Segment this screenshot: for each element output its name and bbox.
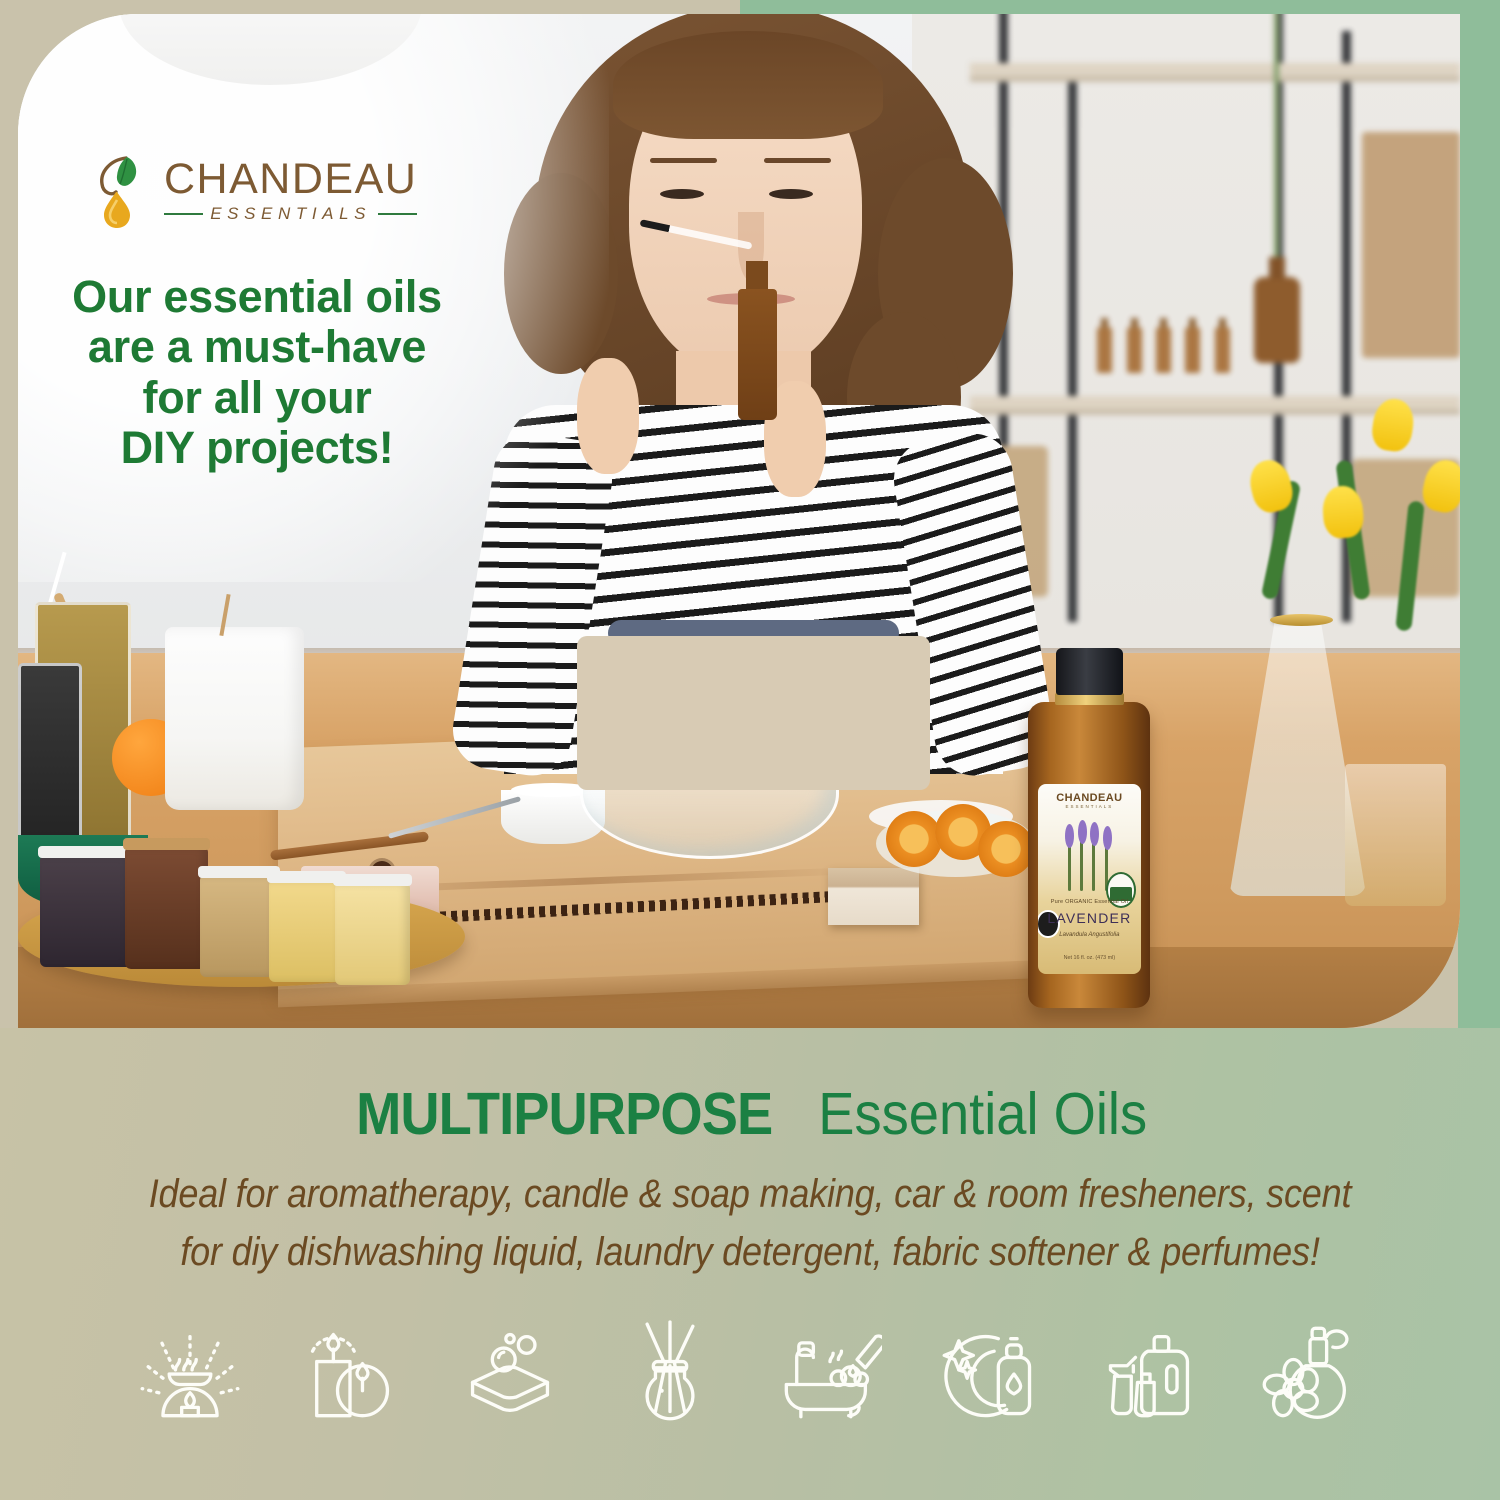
spice-jar (125, 848, 209, 970)
top-green-frame (740, 0, 1500, 14)
product-marketing-poster: CHANDEAU ESSENTIALS (0, 0, 1500, 1500)
label-botanical-name: Lavandula Angustifolia (1038, 932, 1140, 938)
label-logo: CHANDEAU ESSENTIALS (1038, 792, 1140, 809)
small-glass-jar (1345, 764, 1446, 906)
banner-subtitle: Ideal for aromatherapy, candle & soap ma… (40, 1165, 1460, 1281)
label-brand-sub: ESSENTIALS (1038, 804, 1140, 809)
bottle-label: CHANDEAU ESSENTIALS (1038, 784, 1140, 974)
handmade-soap-bar (828, 868, 919, 925)
seed-tube (18, 663, 82, 862)
label-descriptor: Pure ORGANIC Essential Oil (1038, 899, 1140, 905)
dried-orange-slice (886, 811, 942, 867)
headline-line-3: for all your (56, 373, 458, 423)
banner-title: MULTIPURPOSEEssential Oils (0, 1080, 1500, 1148)
candle-icon (298, 1320, 402, 1424)
lavender-oil-bottle: CHANDEAU ESSENTIALS (1020, 648, 1158, 1008)
label-brand: CHANDEAU (1038, 792, 1140, 804)
oil-drop-leaf-icon (86, 152, 152, 230)
headline-line-1: Our essential oils (56, 272, 458, 322)
reed-diffuser-icon (618, 1320, 722, 1424)
logo-tagline: ESSENTIALS (210, 204, 371, 224)
amber-dropper-bottle (738, 289, 777, 420)
right-green-frame (1458, 0, 1500, 1038)
bath-dropper-icon (778, 1320, 882, 1424)
banner-subtitle-line-1: Ideal for aromatherapy, candle & soap ma… (111, 1165, 1389, 1223)
logo-rule-right (378, 213, 417, 215)
banner-subtitle-line-2: for diy dishwashing liquid, laundry dete… (111, 1223, 1389, 1281)
dish-soap-icon (938, 1320, 1042, 1424)
oil-burner-icon (138, 1320, 242, 1424)
logo-brand-name: CHANDEAU (164, 158, 417, 201)
spice-jar (40, 856, 132, 968)
logo-tagline-row: ESSENTIALS (164, 204, 417, 224)
brand-logo: CHANDEAU ESSENTIALS (86, 152, 417, 230)
logo-wordmark: CHANDEAU ESSENTIALS (164, 158, 417, 224)
label-product-name: LAVENDER (1038, 910, 1140, 926)
laundry-detergent-icon (1098, 1320, 1202, 1424)
spice-jar (335, 884, 410, 985)
use-case-icon-row (0, 1320, 1500, 1424)
logo-rule-left (164, 213, 203, 215)
bottle-cap (1056, 648, 1122, 695)
headline-line-4: DIY projects! (56, 423, 458, 473)
apron (577, 636, 930, 790)
bottle-gold-ring (1055, 693, 1124, 705)
banner-title-light: Essential Oils (819, 1080, 1148, 1148)
label-volume: Net 16 fl. oz. (473 ml) (1038, 955, 1140, 961)
perfume-bottle-icon (1258, 1320, 1362, 1424)
spice-jar (269, 881, 344, 982)
banner-title-bold: MULTIPURPOSE (356, 1080, 772, 1148)
headline-line-2: are a must-have (56, 322, 458, 372)
bottle-body: CHANDEAU ESSENTIALS (1028, 702, 1150, 1008)
soap-bar-icon (458, 1320, 562, 1424)
candle-jar (165, 627, 303, 810)
background-shelving (970, 14, 1460, 622)
spice-jar (200, 876, 278, 977)
headline: Our essential oils are a must-have for a… (56, 272, 458, 474)
